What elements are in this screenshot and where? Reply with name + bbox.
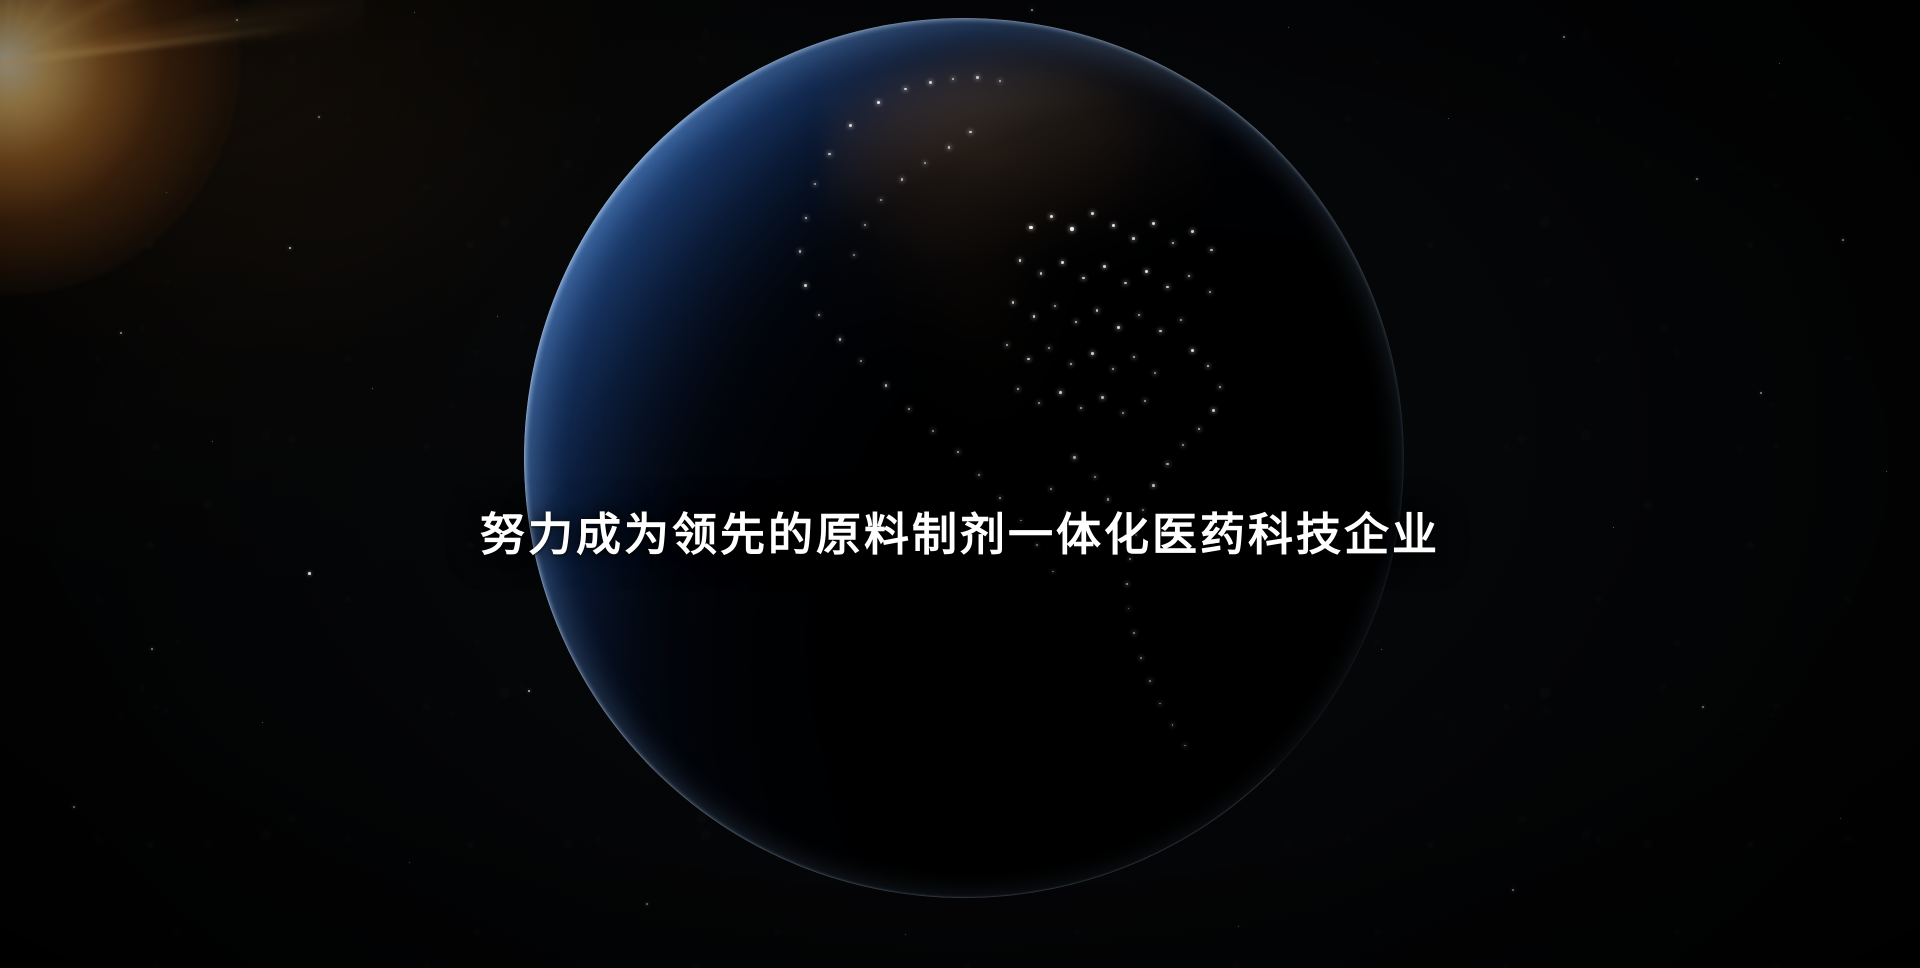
space-background [0, 0, 1920, 968]
hero-tagline: 努力成为领先的原料制剂一体化医药科技企业 [0, 508, 1920, 561]
hero-banner: 努力成为领先的原料制剂一体化医药科技企业 [0, 0, 1920, 968]
